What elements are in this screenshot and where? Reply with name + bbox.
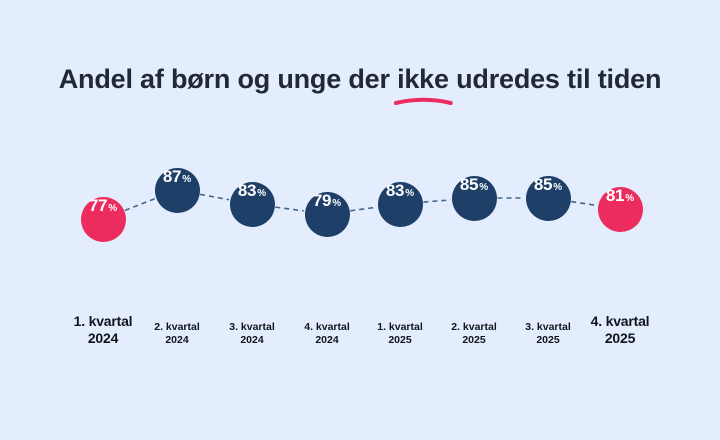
infographic-canvas: Andel af børn og unge der ikke udredes t…	[0, 0, 720, 440]
axis-tick-label: 2. kvartal2024	[154, 321, 200, 347]
data-point-value: 85	[460, 176, 478, 193]
axis-label-year: 2025	[377, 334, 423, 347]
percent-sign: %	[332, 199, 341, 209]
axis-label-quarter: 3. kvartal	[229, 321, 275, 334]
axis-label-quarter: 1. kvartal	[377, 321, 423, 334]
axis-tick-label: 4. kvartal2025	[591, 313, 650, 347]
percent-sign: %	[108, 204, 117, 214]
axis-tick-label: 4. kvartal2024	[304, 321, 350, 347]
data-point-circle[interactable]: 83%	[230, 182, 275, 227]
axis-label-quarter: 4. kvartal	[591, 313, 650, 330]
connector-segment	[423, 200, 450, 202]
axis-tick-label: 1. kvartal2024	[74, 313, 133, 347]
axis-label-year: 2024	[74, 330, 133, 347]
axis-label-year: 2025	[451, 334, 497, 347]
data-point-circle[interactable]: 83%	[378, 182, 423, 227]
data-point-circle[interactable]: 87%	[155, 168, 200, 213]
data-point-circle[interactable]: 79%	[305, 192, 350, 237]
axis-label-year: 2024	[229, 334, 275, 347]
percent-sign: %	[257, 189, 266, 199]
data-point-circle[interactable]: 77%	[81, 197, 126, 242]
connector-segment	[200, 194, 229, 199]
percent-sign: %	[405, 189, 414, 199]
connector-segment	[125, 199, 155, 211]
data-point-value: 87	[163, 168, 181, 185]
axis-label-quarter: 2. kvartal	[451, 321, 497, 334]
data-point-circle[interactable]: 85%	[526, 176, 571, 221]
quarterly-chart: 77%87%83%79%83%85%85%81% 1. kvartal20242…	[0, 0, 720, 440]
axis-label-year: 2025	[525, 334, 571, 347]
axis-label-quarter: 3. kvartal	[525, 321, 571, 334]
data-point-circle[interactable]: 81%	[598, 187, 643, 232]
connector-segment	[350, 207, 376, 211]
data-point-value: 83	[386, 182, 404, 199]
axis-tick-label: 2. kvartal2025	[451, 321, 497, 347]
data-point-value: 83	[238, 182, 256, 199]
axis-label-year: 2024	[304, 334, 350, 347]
percent-sign: %	[479, 183, 488, 193]
data-point-value: 85	[534, 176, 552, 193]
data-point-value: 81	[606, 187, 624, 204]
data-point-value: 79	[313, 192, 331, 209]
axis-label-year: 2025	[591, 330, 650, 347]
axis-label-year: 2024	[154, 334, 200, 347]
connector-segment	[571, 202, 597, 206]
axis-label-quarter: 2. kvartal	[154, 321, 200, 334]
percent-sign: %	[182, 175, 191, 185]
axis-label-quarter: 4. kvartal	[304, 321, 350, 334]
axis-tick-label: 3. kvartal2024	[229, 321, 275, 347]
axis-label-quarter: 1. kvartal	[74, 313, 133, 330]
percent-sign: %	[625, 194, 634, 204]
data-point-circle[interactable]: 85%	[452, 176, 497, 221]
axis-tick-label: 1. kvartal2025	[377, 321, 423, 347]
axis-tick-label: 3. kvartal2025	[525, 321, 571, 347]
connector-segment	[275, 207, 303, 211]
data-point-value: 77	[89, 197, 107, 214]
percent-sign: %	[553, 183, 562, 193]
